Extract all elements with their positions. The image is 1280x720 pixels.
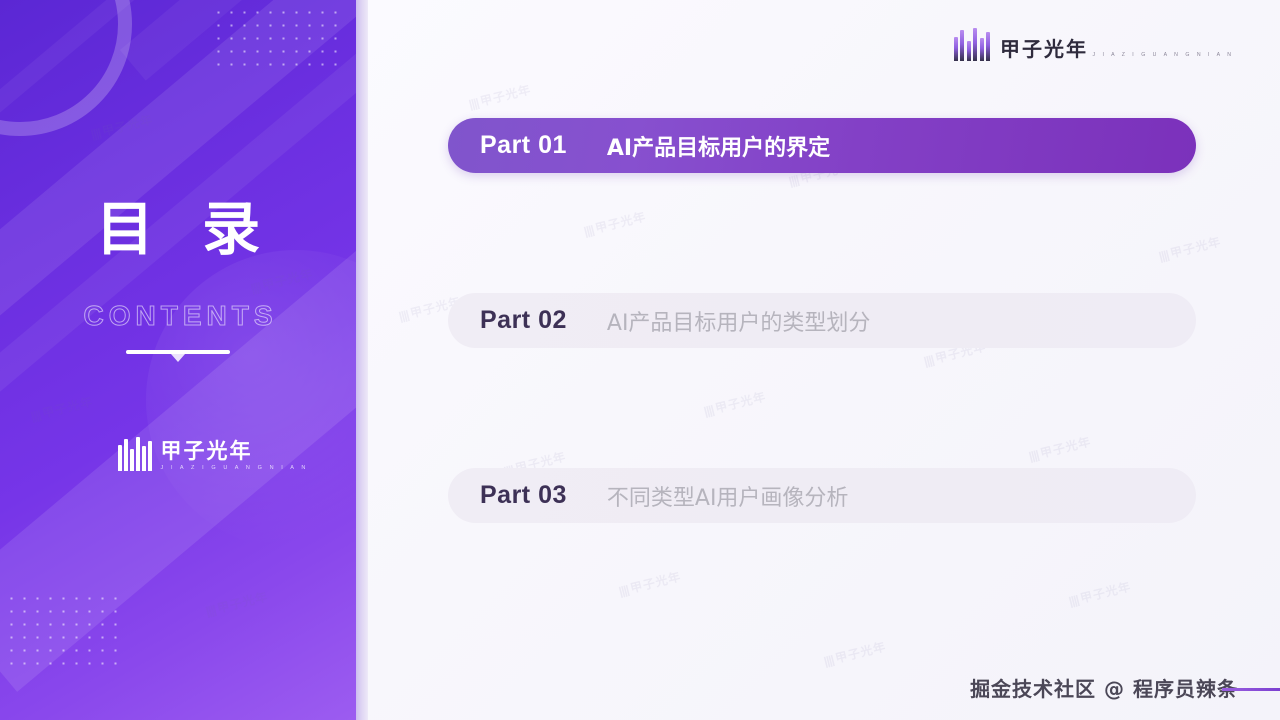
logo-bars-icon	[118, 437, 152, 471]
part-title-03: 不同类型AI用户画像分析	[607, 480, 849, 512]
sidebar-content: 目 录 CONTENTS 甲子光年 J I A Z I G U A N G N …	[0, 0, 356, 720]
part-label-03: Part 03	[480, 481, 567, 510]
watermark-logo: 甲子光年	[1157, 233, 1223, 265]
brand-logo-text: 甲子光年 J I A Z I G U A N G N I A N	[1000, 39, 1234, 61]
part-row-01[interactable]: Part 01 AI产品目标用户的界定	[448, 118, 1196, 173]
divider	[0, 346, 356, 366]
sidebar: 甲子光年 甲子光年 甲子光年 甲子光年 目 录 CONTENTS 甲子光年 J …	[0, 0, 356, 720]
part-label-01: Part 01	[480, 131, 567, 160]
sidebar-title-en: CONTENTS	[0, 302, 356, 330]
watermark-logo: 甲子光年	[702, 388, 768, 420]
slide: 甲子光年 甲子光年 甲子光年 甲子光年 目 录 CONTENTS 甲子光年 J …	[0, 0, 1280, 720]
sidebar-logo-text: 甲子光年 J I A Z I G U A N G N I A N	[161, 440, 309, 471]
credit-watermark: 掘金技术社区 @ 程序员辣条	[970, 673, 1238, 702]
watermark-logo: 甲子光年	[1027, 433, 1093, 465]
watermark-logo: 甲子光年	[582, 208, 648, 240]
part-label-02: Part 02	[480, 306, 567, 335]
sidebar-title-cn: 目 录	[0, 200, 356, 258]
watermark-logo: 甲子光年	[617, 568, 683, 600]
sidebar-logo-cn: 甲子光年	[161, 440, 309, 462]
sidebar-logo-en: J I A Z I G U A N G N I A N	[161, 465, 309, 471]
part-title-02: AI产品目标用户的类型划分	[607, 305, 871, 337]
credit-accent-line	[1222, 688, 1280, 691]
part-title-01: AI产品目标用户的界定	[607, 130, 830, 162]
part-row-02[interactable]: Part 02 AI产品目标用户的类型划分	[448, 293, 1196, 348]
chevron-down-icon	[171, 354, 185, 362]
sidebar-edge-strip	[356, 0, 368, 720]
logo-bars-icon	[954, 27, 991, 61]
part-row-03[interactable]: Part 03 不同类型AI用户画像分析	[448, 468, 1196, 523]
watermark-logo: 甲子光年	[1067, 578, 1133, 610]
brand-logo: 甲子光年 J I A Z I G U A N G N I A N	[954, 27, 1235, 61]
watermark-logo: 甲子光年	[822, 638, 888, 670]
brand-logo-en: J I A Z I G U A N G N I A N	[1092, 52, 1234, 58]
sidebar-logo: 甲子光年 J I A Z I G U A N G N I A N	[118, 437, 308, 471]
main-content: 甲子光年 甲子光年 甲子光年 甲子光年 甲子光年 甲子光年 甲子光年 甲子光年 …	[368, 0, 1280, 720]
brand-logo-cn: 甲子光年	[1000, 37, 1088, 61]
credit-text: 掘金技术社区 @ 程序员辣条	[970, 673, 1238, 702]
watermark-logo: 甲子光年	[467, 81, 533, 113]
